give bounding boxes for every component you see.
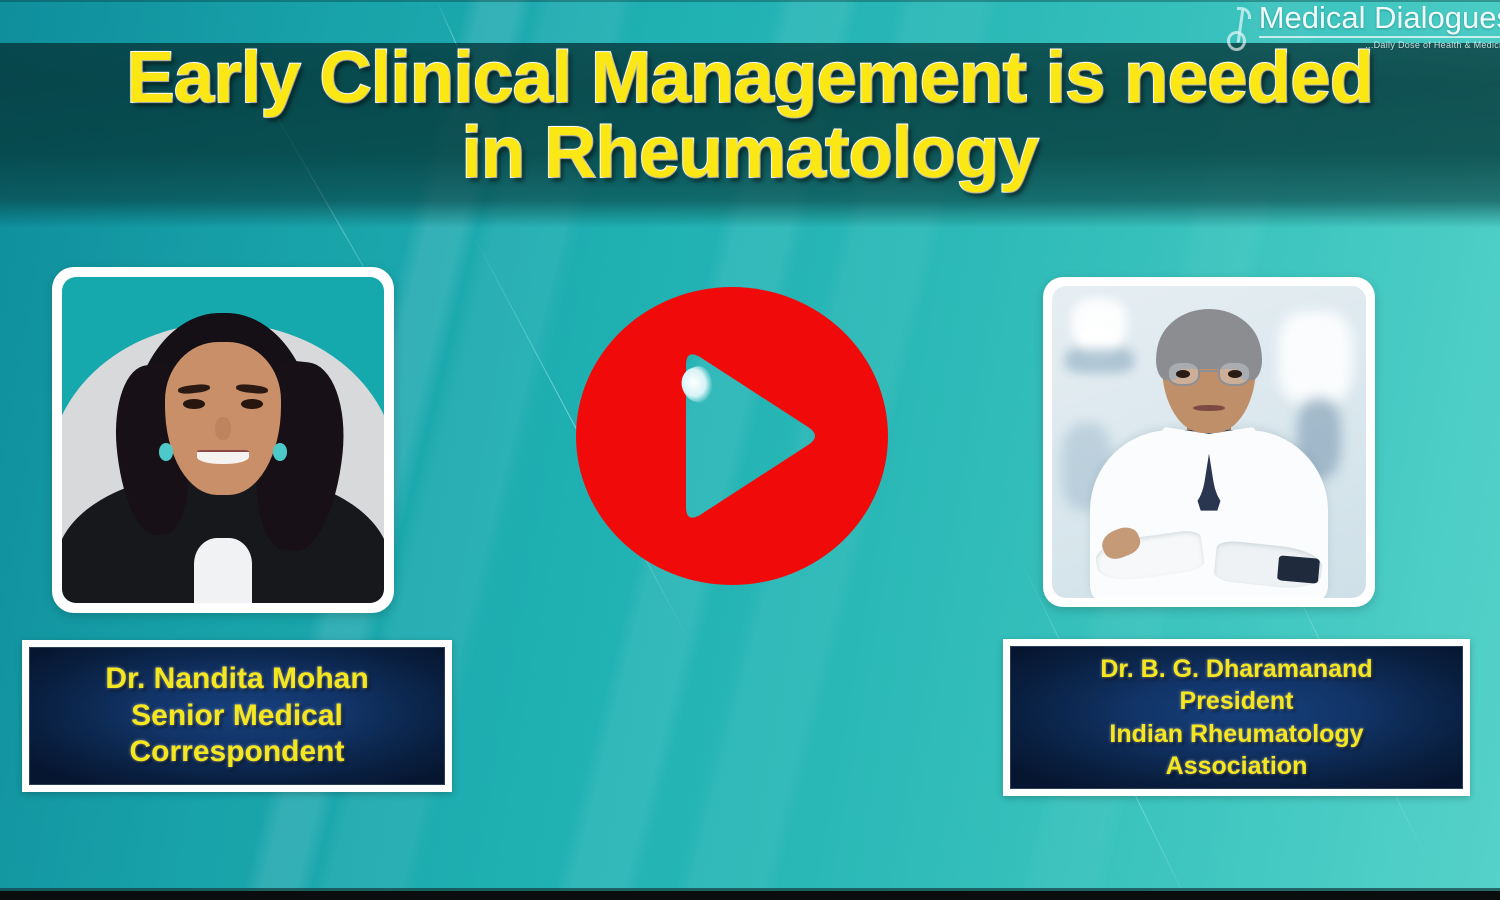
brand-logo[interactable]: Medical Dialogues ...Daily Dose of Healt… [1223,2,1500,53]
title-line-1: Early Clinical Management is needed [0,44,1500,113]
plate-right-line-4: Association [1166,750,1308,783]
speaker-nameplate-right: Dr. B. G. Dharamanand President Indian R… [1003,639,1470,796]
doctor-portrait [1052,286,1366,598]
stethoscope-icon [1223,7,1257,53]
plate-left-line-2: Senior Medical [131,698,343,735]
plate-right-line-3: Indian Rheumatology [1109,718,1363,751]
brand-name: Medical Dialogues [1259,2,1500,35]
play-triangle-icon [576,287,888,585]
title-line-2: in Rheumatology [0,119,1500,188]
woman-portrait [62,277,384,603]
plate-right-line-2: President [1180,685,1294,718]
play-button[interactable] [576,287,888,585]
brand-underline [1259,36,1500,38]
video-title: Early Clinical Management is needed in R… [0,44,1500,188]
plate-left-line-3: Correspondent [129,734,344,771]
speaker-photo-left [52,267,394,613]
plate-right-line-1: Dr. B. G. Dharamanand [1100,653,1372,686]
video-player-thumbnail[interactable]: Medical Dialogues ...Daily Dose of Healt… [0,0,1500,900]
speaker-nameplate-left: Dr. Nandita Mohan Senior Medical Corresp… [22,640,452,792]
plate-left-line-1: Dr. Nandita Mohan [105,661,368,698]
brand-tagline: ...Daily Dose of Health & Medicine [1259,40,1500,50]
bottom-letterbox-bar [0,891,1500,900]
speaker-photo-right [1043,277,1375,607]
